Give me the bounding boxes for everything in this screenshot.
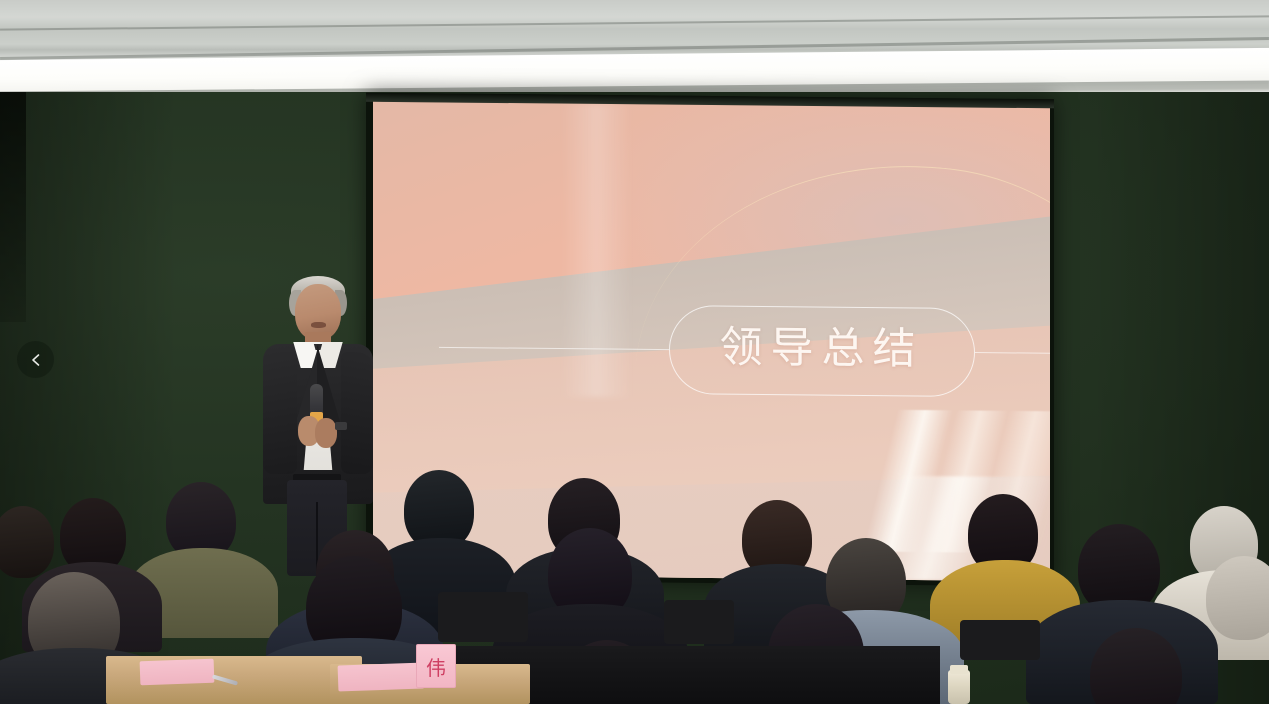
handout-paper — [338, 663, 425, 692]
slide-title-group: 领导总结 — [669, 305, 975, 397]
slide-title-pill: 领导总结 — [669, 305, 975, 397]
chair-back — [664, 600, 734, 644]
chevron-left-icon — [28, 352, 44, 368]
prev-button[interactable] — [17, 341, 54, 378]
projector-light-band — [563, 104, 631, 398]
projection-screen: 领导总结 — [373, 102, 1050, 581]
water-bottle-cap — [950, 665, 968, 674]
presenter-mouth — [311, 322, 326, 328]
name-placard: 伟 — [416, 644, 456, 688]
slide-title: 领导总结 — [720, 326, 924, 371]
audience-head — [1206, 556, 1269, 640]
presentation-photo-scene: 领导总结 — [0, 0, 1269, 704]
chair-back — [438, 592, 528, 642]
wall-left-shadow — [0, 92, 26, 322]
presenter-watch — [335, 422, 347, 430]
presenter-arm-left — [263, 352, 297, 474]
audience-head — [0, 506, 54, 578]
handout-paper — [140, 659, 215, 686]
presenter-hand-right — [315, 418, 337, 448]
water-bottle — [948, 670, 970, 704]
ceiling-rail — [0, 15, 1269, 30]
presenter-arm-right — [341, 352, 373, 474]
front-desk-row: 伟 — [0, 644, 1269, 704]
